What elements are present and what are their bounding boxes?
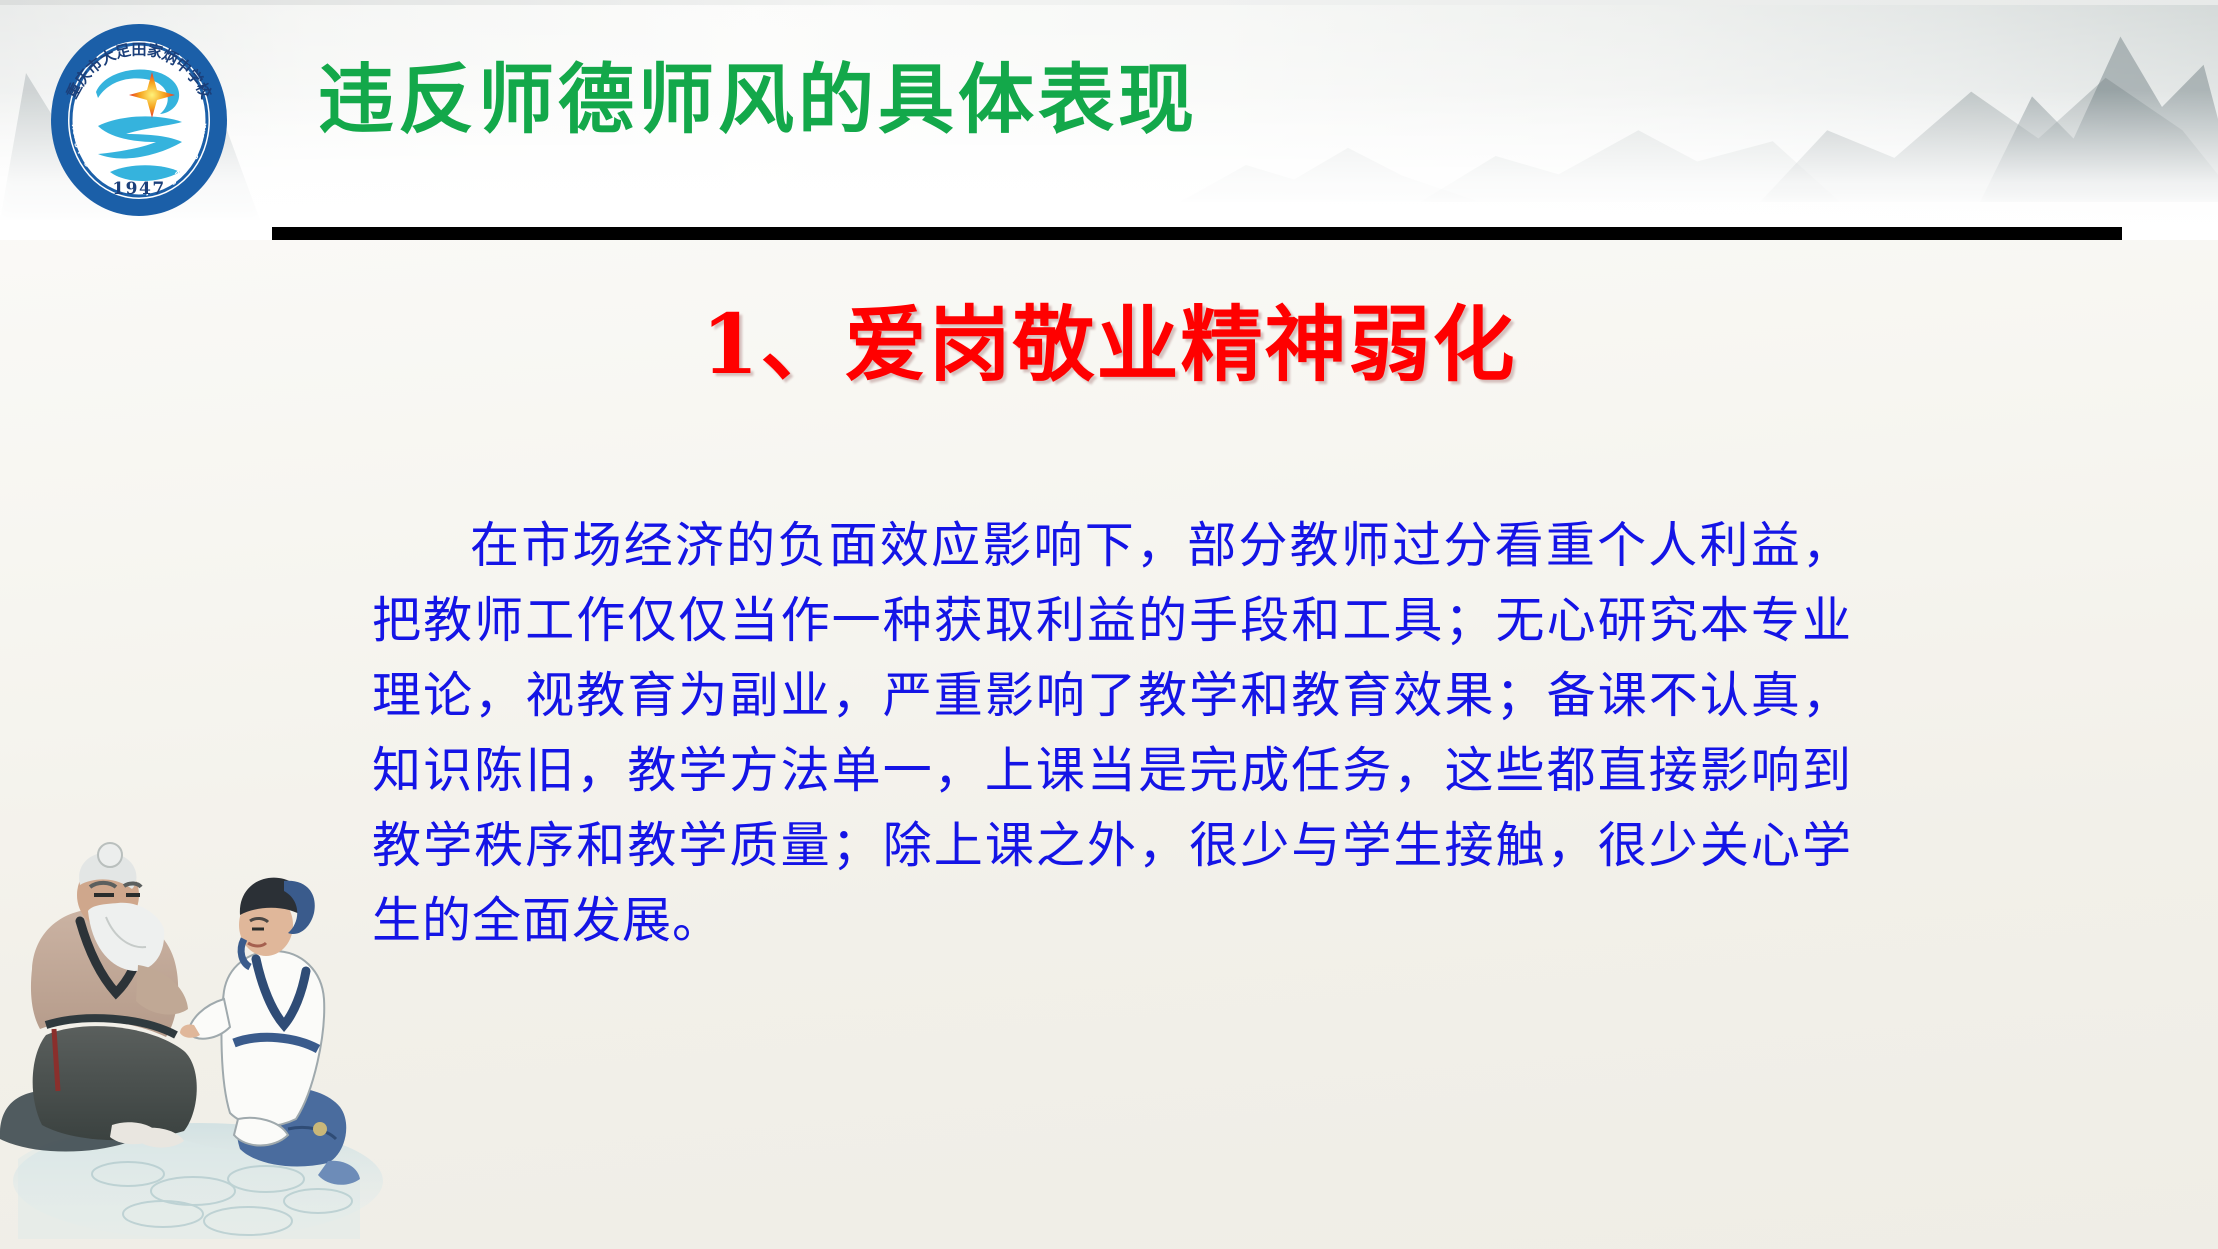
body-paragraph: 在市场经济的负面效应影响下，部分教师过分看重个人利益，把教师工作仅仅当作一种获取… <box>372 508 1852 958</box>
school-logo-icon: 重庆市大足田家炳中学校 Chongqingshi Dazu Tianjiabin… <box>48 22 230 218</box>
header-divider <box>272 227 2122 240</box>
teacher-and-disciple-illustration <box>0 829 388 1249</box>
svg-text:1947: 1947 <box>112 179 165 199</box>
section-heading: 1、爱岗敬业精神弱化 <box>0 300 2218 390</box>
header-top-edge <box>0 0 2218 5</box>
page-title: 违反师德师风的具体表现 <box>318 62 1198 138</box>
slide: 重庆市大足田家炳中学校 Chongqingshi Dazu Tianjiabin… <box>0 0 2218 1249</box>
